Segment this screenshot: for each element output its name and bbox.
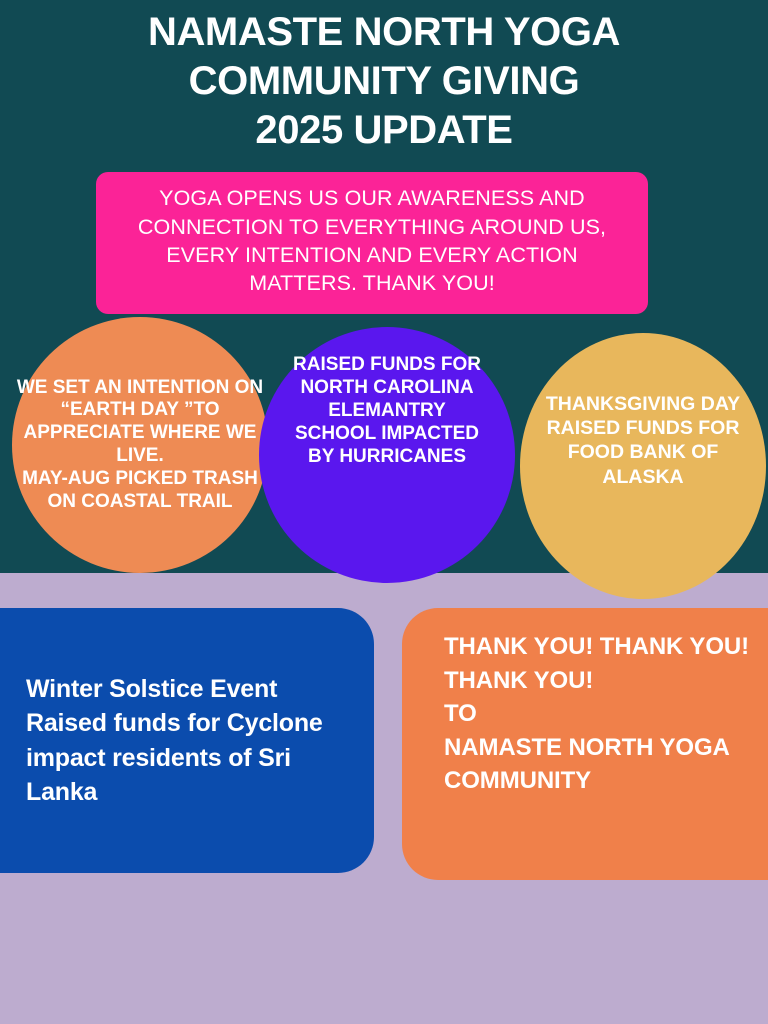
card-winter-solstice: Winter Solstice Event Raised funds for C…	[0, 608, 374, 873]
circle-earth-day: WE SET AN INTENTION ON “EARTH DAY ”TO AP…	[12, 317, 268, 573]
circle-north-carolina-school-text: RAISED FUNDS FOR NORTH CAROLINA ELEMANTR…	[287, 354, 487, 469]
statement-box: YOGA OPENS US OUR AWARENESS AND CONNECTI…	[96, 172, 648, 314]
poster-canvas: NAMASTE NORTH YOGA COMMUNITY GIVING 2025…	[0, 0, 768, 1024]
circle-north-carolina-school: RAISED FUNDS FOR NORTH CAROLINA ELEMANTR…	[259, 327, 515, 583]
title-line-2: COMMUNITY GIVING	[0, 57, 768, 106]
statement-text: YOGA OPENS US OUR AWARENESS AND CONNECTI…	[114, 184, 630, 298]
circle-earth-day-text: WE SET AN INTENTION ON “EARTH DAY ”TO AP…	[15, 377, 265, 514]
circle-food-bank-alaska: THANKSGIVING DAY RAISED FUNDS FOR FOOD B…	[520, 333, 766, 599]
circle-food-bank-alaska-text: THANKSGIVING DAY RAISED FUNDS FOR FOOD B…	[527, 392, 759, 489]
title-line-3: 2025 UPDATE	[0, 106, 768, 155]
card-winter-solstice-text: Winter Solstice Event Raised funds for C…	[26, 672, 350, 810]
card-thank-you-text: THANK YOU! THANK YOU! THANK YOU! TO NAMA…	[444, 630, 768, 798]
poster-title: NAMASTE NORTH YOGA COMMUNITY GIVING 2025…	[0, 8, 768, 154]
title-line-1: NAMASTE NORTH YOGA	[0, 8, 768, 57]
card-thank-you: THANK YOU! THANK YOU! THANK YOU! TO NAMA…	[402, 608, 768, 880]
